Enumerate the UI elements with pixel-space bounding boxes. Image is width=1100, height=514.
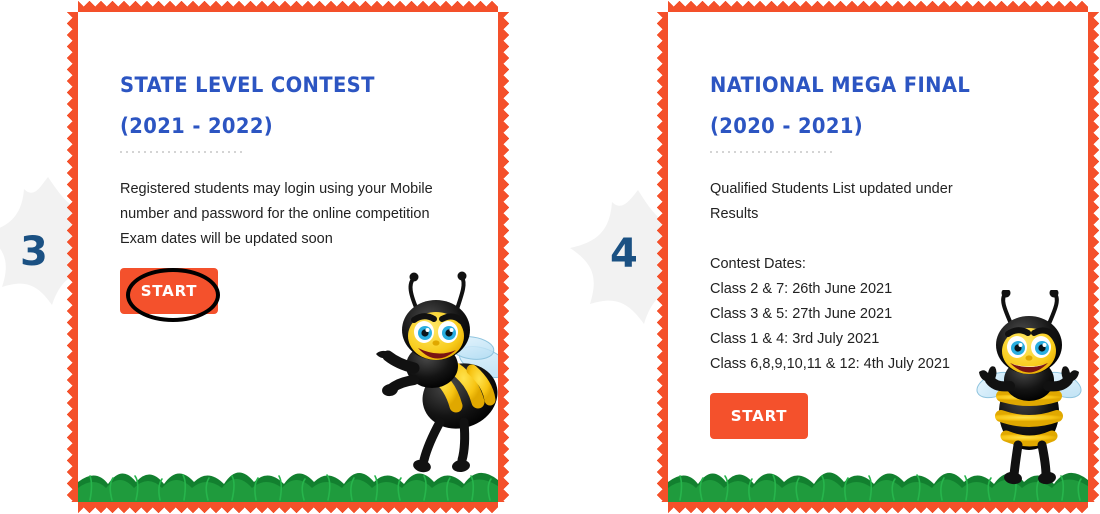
- contest-cards-stage: 3 STATE LEVEL CONTEST (2021 - 2022) Regi…: [0, 0, 1100, 514]
- card-border-right-right-card: [1088, 12, 1099, 502]
- contest-card-state-level[interactable]: STATE LEVEL CONTEST (2021 - 2022) Regist…: [78, 12, 498, 502]
- card-subtitle-years-right: (2020 - 2021): [710, 105, 863, 147]
- start-button-national-mega-final[interactable]: START: [710, 393, 808, 439]
- contest-card-national-mega-final[interactable]: NATIONAL MEGA FINAL (2020 - 2021) Qualif…: [668, 12, 1088, 502]
- card-title-line1-right: NATIONAL MEGA FINAL: [710, 64, 970, 106]
- start-button-state-level[interactable]: START: [120, 268, 218, 314]
- card-border-right-left-card: [498, 12, 509, 502]
- card-border-left-right-card: [657, 12, 668, 502]
- card-border-top-left-card: [78, 1, 498, 12]
- card-subtitle-years: (2021 - 2022): [120, 105, 273, 147]
- grass-strip-right: [668, 458, 1088, 502]
- card-title-line1: STATE LEVEL CONTEST: [120, 64, 375, 106]
- card-body-right: NATIONAL MEGA FINAL (2020 - 2021) Qualif…: [668, 12, 1088, 502]
- bee-pointing-icon: [368, 270, 498, 480]
- card-description-left: Registered students may login using your…: [120, 177, 460, 252]
- card-border-bottom-left-card: [78, 502, 498, 513]
- card-body-left: STATE LEVEL CONTEST (2021 - 2022) Regist…: [78, 12, 498, 502]
- card-border-top-right-card: [668, 1, 1088, 12]
- dotted-divider-right: [710, 151, 835, 153]
- dotted-divider-left: [120, 151, 245, 153]
- step-number-3: 3: [20, 232, 48, 272]
- grass-strip-left: [78, 458, 498, 502]
- card-border-left-left-card: [67, 12, 78, 502]
- card-description-right: Qualified Students List updated under Re…: [710, 177, 1040, 227]
- contest-dates-list: Contest Dates: Class 2 & 7: 26th June 20…: [710, 252, 1050, 377]
- card-border-bottom-right-card: [668, 502, 1088, 513]
- step-number-4: 4: [610, 234, 638, 274]
